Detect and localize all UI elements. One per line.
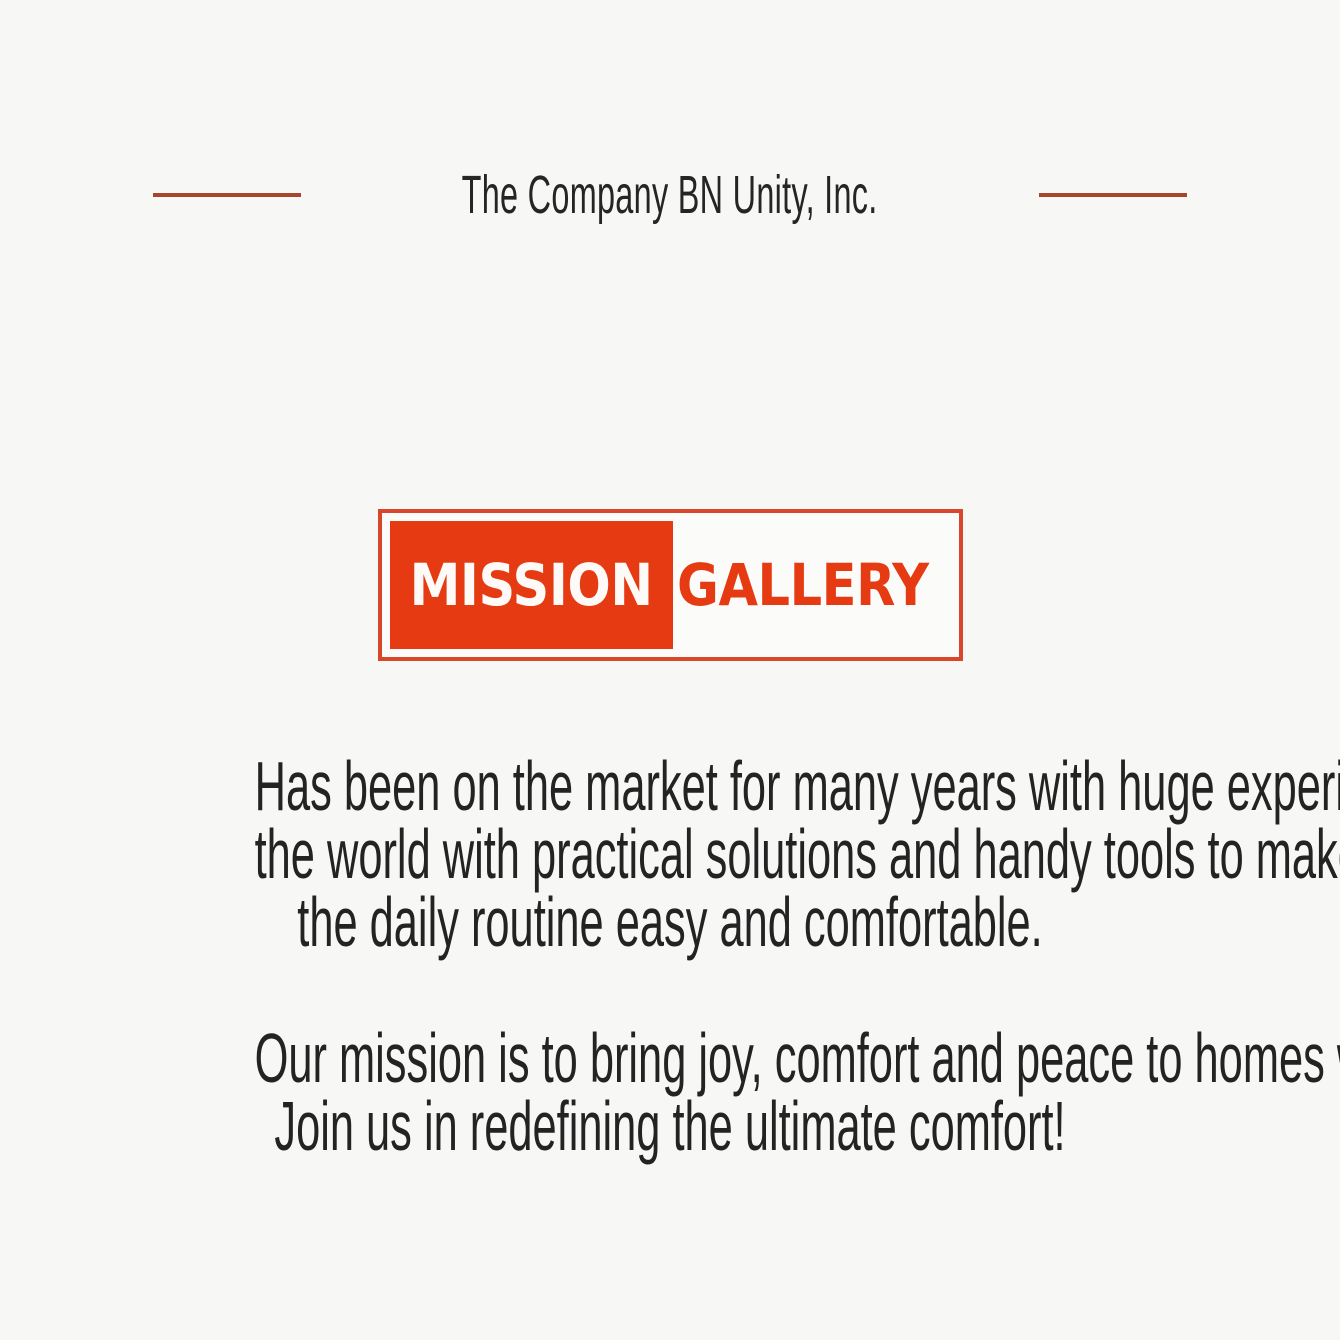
right-rule-decoration [1039, 193, 1187, 197]
left-rule-decoration [153, 193, 301, 197]
header: The Company BN Unity, Inc. [0, 160, 1340, 230]
logo-word-gallery: GALLERY [677, 556, 929, 614]
logo-mission-block: MISSION [390, 521, 673, 649]
logo-gallery-block: GALLERY [673, 521, 963, 649]
paragraph-two-line-2: Join us in redefining the ultimate comfo… [255, 1092, 1086, 1160]
paragraph-two-line-1: Our mission is to bring joy, comfort and… [255, 1024, 1086, 1092]
logo-inner: MISSION GALLERY [390, 521, 951, 649]
logo-word-mission: MISSION [410, 556, 653, 614]
paragraph-one-line-2: the world with practical solutions and h… [255, 820, 1086, 888]
company-title: The Company BN Unity, Inc. [462, 168, 878, 222]
promo-card: The Company BN Unity, Inc. MISSION GALLE… [0, 0, 1340, 1340]
body-copy: Has been on the market for many years wi… [0, 752, 1340, 1160]
paragraph-spacer [0, 956, 1340, 1024]
brand-logo: MISSION GALLERY [378, 509, 963, 661]
paragraph-one-line-3: the daily routine easy and comfortable. [255, 888, 1086, 956]
paragraph-one-line-1: Has been on the market for many years wi… [255, 752, 1086, 820]
